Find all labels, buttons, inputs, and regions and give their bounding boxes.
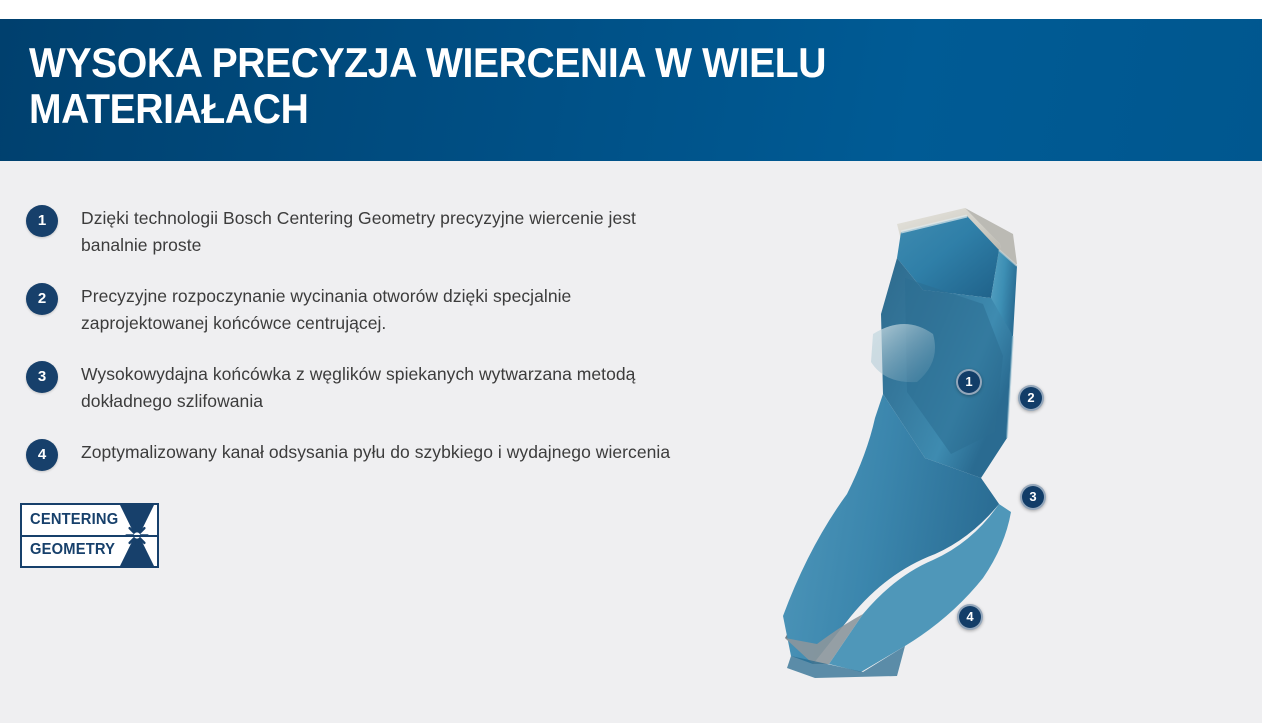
top-white-strip xyxy=(0,0,1262,19)
feature-text: Precyzyjne rozpoczynanie wycinania otwor… xyxy=(81,283,701,337)
product-image xyxy=(755,186,1105,686)
logo-line-1: CENTERING xyxy=(30,511,118,529)
list-item: 1 Dzięki technologii Bosch Centering Geo… xyxy=(26,205,706,259)
feature-text: Zoptymalizowany kanał odsysania pyłu do … xyxy=(81,439,701,466)
feature-number-badge: 4 xyxy=(26,439,58,471)
list-item: 4 Zoptymalizowany kanał odsysania pyłu d… xyxy=(26,439,706,471)
feature-number-badge: 1 xyxy=(26,205,58,237)
drill-bit-icon xyxy=(755,186,1105,686)
image-callout-1: 1 xyxy=(956,369,982,395)
page-title: WYSOKA PRECYZJA WIERCENIA W WIELU MATERI… xyxy=(29,40,978,132)
image-callout-3: 3 xyxy=(1020,484,1046,510)
logo-line-2: GEOMETRY xyxy=(30,541,115,559)
list-item: 3 Wysokowydajna końcówka z węglików spie… xyxy=(26,361,706,415)
centering-geometry-logo: CENTERING GEOMETRY xyxy=(20,503,159,568)
feature-text: Dzięki technologii Bosch Centering Geome… xyxy=(81,205,701,259)
feature-text: Wysokowydajna końcówka z węglików spieka… xyxy=(81,361,701,415)
image-callout-2: 2 xyxy=(1018,385,1044,411)
header-banner: WYSOKA PRECYZJA WIERCENIA W WIELU MATERI… xyxy=(0,19,1262,161)
logo-divider xyxy=(22,535,157,537)
image-callout-4: 4 xyxy=(957,604,983,630)
feature-number-badge: 3 xyxy=(26,361,58,393)
promo-page: WYSOKA PRECYZJA WIERCENIA W WIELU MATERI… xyxy=(0,0,1262,723)
list-item: 2 Precyzyjne rozpoczynanie wycinania otw… xyxy=(26,283,706,337)
feature-number-badge: 2 xyxy=(26,283,58,315)
content-area: 1 Dzięki technologii Bosch Centering Geo… xyxy=(0,161,1262,723)
feature-list: 1 Dzięki technologii Bosch Centering Geo… xyxy=(26,205,706,495)
